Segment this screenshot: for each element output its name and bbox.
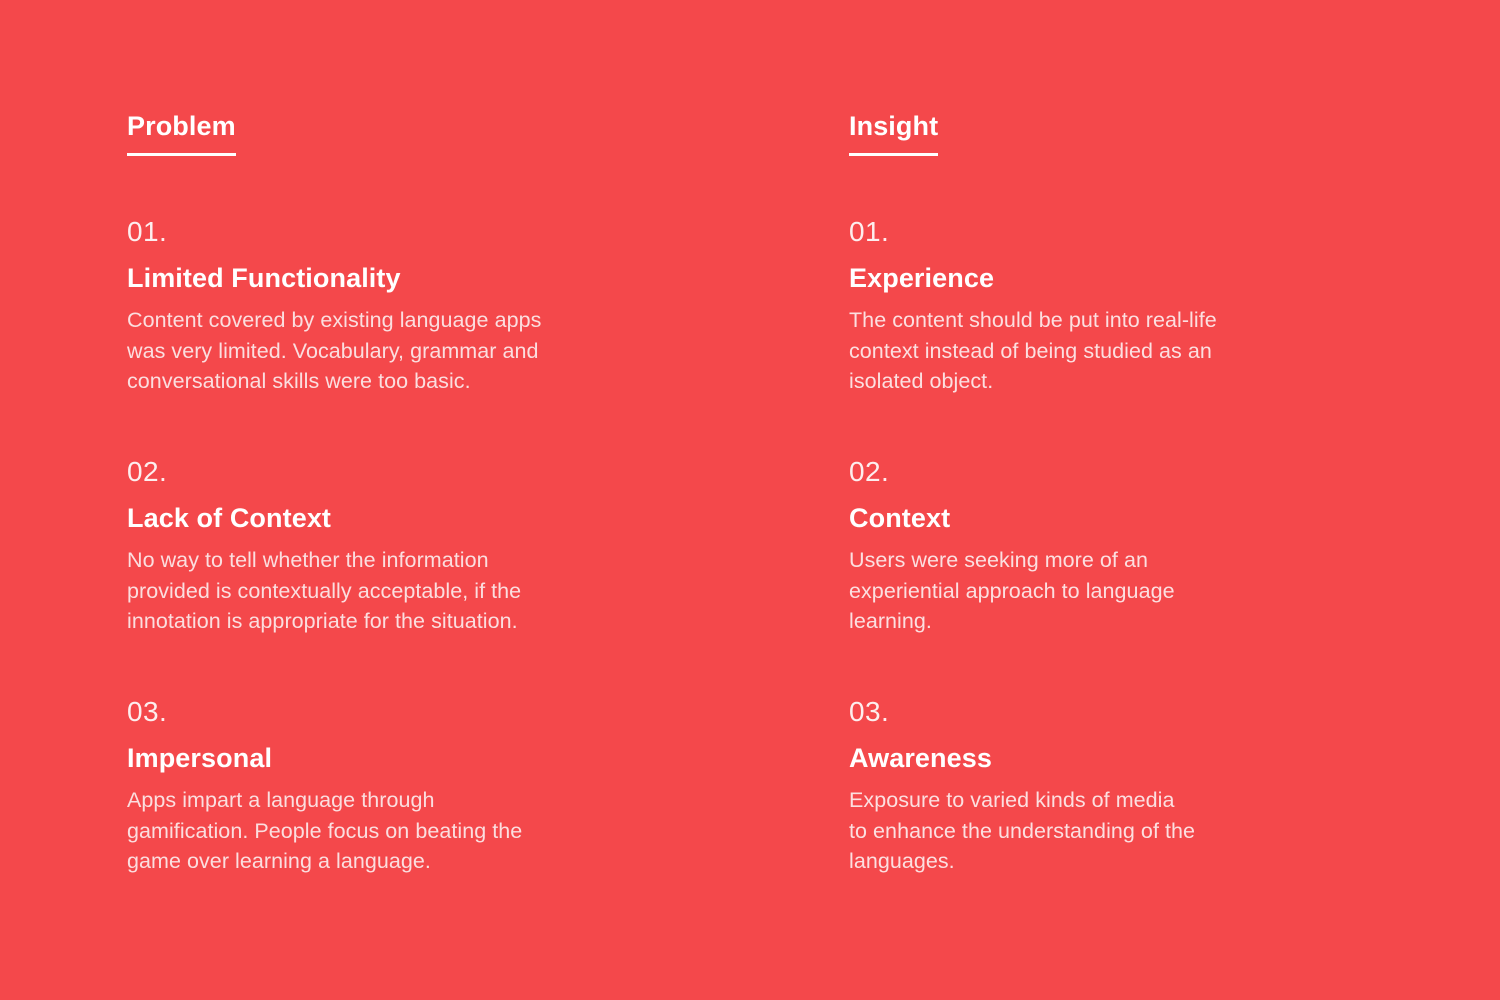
block-number: 01. — [127, 218, 747, 246]
column-heading-insight: Insight — [849, 113, 938, 156]
block-body: Apps impart a language through gamificat… — [127, 785, 747, 877]
block-number: 02. — [127, 458, 747, 486]
column-insight: Insight 01. Experience The content shoul… — [849, 113, 1369, 877]
block-title: Lack of Context — [127, 504, 747, 532]
block-title: Context — [849, 504, 1369, 532]
insight-block-list: 01. Experience The content should be put… — [849, 218, 1369, 877]
block-body: Content covered by existing language app… — [127, 305, 747, 397]
slide-root: Problem 01. Limited Functionality Conten… — [0, 0, 1500, 1000]
insight-block-03: 03. Awareness Exposure to varied kinds o… — [849, 698, 1369, 877]
block-body: Exposure to varied kinds of media to enh… — [849, 785, 1369, 877]
block-body: Users were seeking more of an experienti… — [849, 545, 1369, 637]
problem-block-list: 01. Limited Functionality Content covere… — [127, 218, 747, 877]
column-problem: Problem 01. Limited Functionality Conten… — [127, 113, 747, 877]
problem-block-02: 02. Lack of Context No way to tell wheth… — [127, 458, 747, 637]
problem-block-01: 01. Limited Functionality Content covere… — [127, 218, 747, 397]
block-number: 01. — [849, 218, 1369, 246]
block-number: 02. — [849, 458, 1369, 486]
problem-block-03: 03. Impersonal Apps impart a language th… — [127, 698, 747, 877]
block-title: Experience — [849, 264, 1369, 292]
block-body: The content should be put into real-life… — [849, 305, 1369, 397]
block-title: Limited Functionality — [127, 264, 747, 292]
block-number: 03. — [849, 698, 1369, 726]
insight-block-02: 02. Context Users were seeking more of a… — [849, 458, 1369, 637]
block-number: 03. — [127, 698, 747, 726]
columns-container: Problem 01. Limited Functionality Conten… — [0, 0, 1500, 1000]
block-title: Awareness — [849, 744, 1369, 772]
block-body: No way to tell whether the information p… — [127, 545, 747, 637]
insight-block-01: 01. Experience The content should be put… — [849, 218, 1369, 397]
block-title: Impersonal — [127, 744, 747, 772]
column-heading-problem: Problem — [127, 113, 236, 156]
